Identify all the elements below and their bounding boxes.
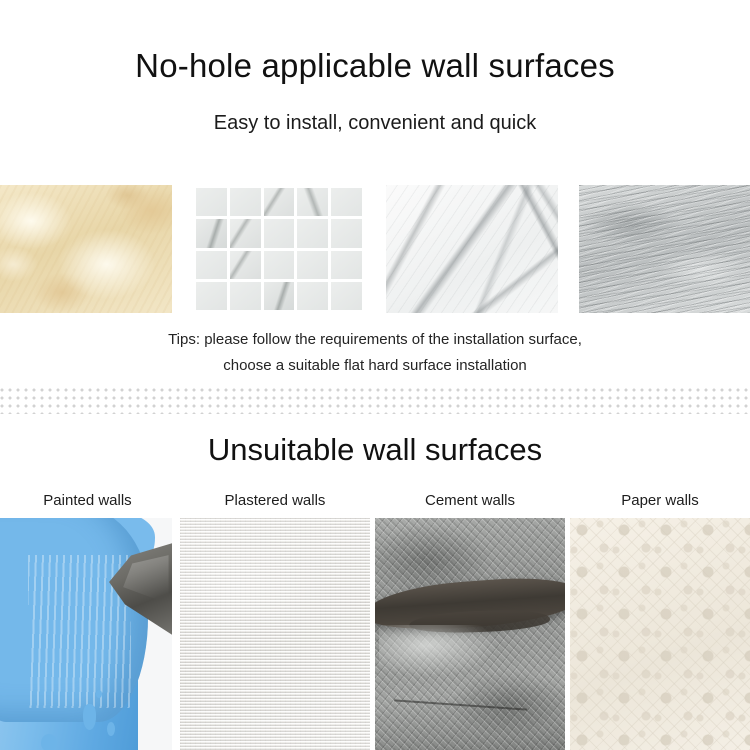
surface-tile-beige-marble — [0, 185, 172, 313]
unsuitable-surface-gallery — [0, 518, 750, 750]
mosaic-cell — [264, 219, 295, 247]
paint-drip — [83, 704, 96, 730]
mosaic-cell — [331, 188, 362, 216]
gray-mosaic-texture — [193, 185, 365, 313]
blue-paint-brush-texture — [0, 518, 172, 750]
mosaic-cell — [264, 251, 295, 279]
mosaic-cell — [230, 282, 261, 310]
mosaic-cell — [331, 251, 362, 279]
mosaic-grid — [193, 185, 365, 313]
suitable-surface-gallery — [0, 185, 750, 313]
tips-line-1: Tips: please follow the requirements of … — [0, 327, 750, 353]
mosaic-cell — [297, 188, 328, 216]
unsuitable-image-cement-wall — [375, 518, 565, 750]
unsuitable-image-plastered-wall — [180, 518, 370, 750]
mosaic-cell — [331, 282, 362, 310]
suitable-headline: No-hole applicable wall surfaces — [0, 48, 750, 84]
cement-light-patch — [379, 625, 497, 676]
mosaic-cell — [230, 219, 261, 247]
unsuitable-label-cement: Cement walls — [375, 492, 565, 509]
damask-wallpaper-texture — [570, 518, 750, 750]
gray-slate-texture — [579, 185, 750, 313]
cement-crack-line — [394, 699, 527, 710]
surface-tile-gray-mosaic — [193, 185, 365, 313]
unsuitable-image-painted-wall — [0, 518, 172, 750]
paint-drip — [107, 722, 115, 736]
mosaic-cell — [297, 282, 328, 310]
mosaic-cell — [264, 282, 295, 310]
cracked-cement-texture — [375, 518, 565, 750]
surface-tile-white-marble — [386, 185, 558, 313]
beige-marble-texture — [0, 185, 172, 313]
unsuitable-label-paper: Paper walls — [570, 492, 750, 509]
tips-line-2: choose a suitable flat hard surface inst… — [0, 353, 750, 379]
white-marble-texture — [386, 185, 558, 313]
ribbed-plaster-texture — [180, 518, 370, 750]
paint-drip — [41, 734, 57, 750]
unsuitable-image-paper-wall — [570, 518, 750, 750]
surface-tile-gray-slate — [579, 185, 750, 313]
mosaic-cell — [196, 219, 227, 247]
unsuitable-headline: Unsuitable wall surfaces — [0, 432, 750, 468]
unsuitable-label-row: Painted walls Plastered walls Cement wal… — [0, 492, 750, 514]
mosaic-cell — [196, 188, 227, 216]
unsuitable-label-painted: Painted walls — [0, 492, 175, 509]
product-infographic: No-hole applicable wall surfaces Easy to… — [0, 0, 750, 750]
dotted-divider — [0, 388, 750, 414]
mosaic-cell — [196, 282, 227, 310]
mosaic-cell — [264, 188, 295, 216]
installation-tips: Tips: please follow the requirements of … — [0, 327, 750, 379]
suitable-subheadline: Easy to install, convenient and quick — [0, 112, 750, 135]
mosaic-cell — [196, 251, 227, 279]
mosaic-cell — [297, 219, 328, 247]
unsuitable-label-plastered: Plastered walls — [180, 492, 370, 509]
mosaic-cell — [297, 251, 328, 279]
mosaic-cell — [331, 219, 362, 247]
mosaic-cell — [230, 251, 261, 279]
mosaic-cell — [230, 188, 261, 216]
